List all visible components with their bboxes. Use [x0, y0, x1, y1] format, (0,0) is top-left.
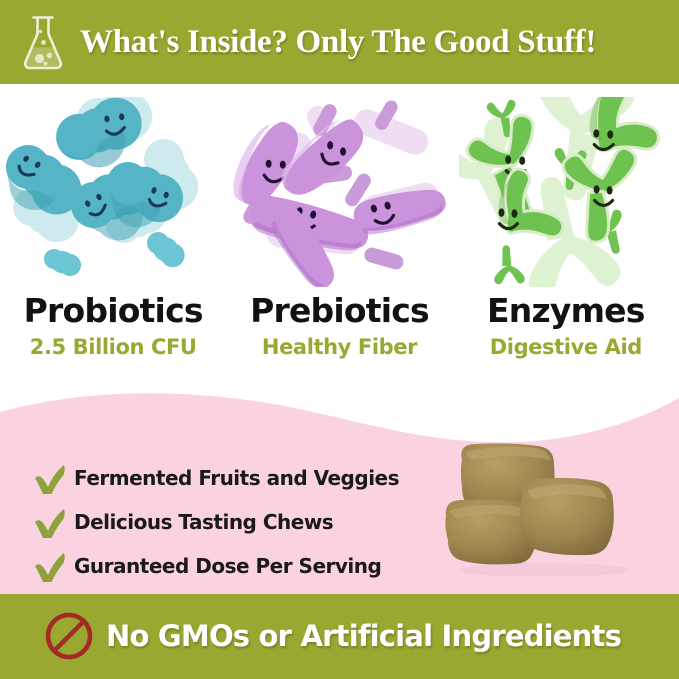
probiotic-small-pair-2 — [141, 227, 190, 271]
chew-shadow — [458, 563, 630, 576]
probiotic-cell-a — [52, 97, 147, 173]
benefit-item-1: Fermented Fruits and Veggies — [32, 456, 432, 500]
ingredients-infographic: What's Inside? Only The Good Stuff! — [0, 0, 679, 679]
header-banner: What's Inside? Only The Good Stuff! — [0, 0, 679, 84]
benefit-label-1: Fermented Fruits and Veggies — [74, 466, 399, 490]
header-title: What's Inside? Only The Good Stuff! — [80, 18, 660, 66]
ingredient-column-enzymes: Enzymes Digestive Aid — [453, 292, 679, 362]
no-prohibited-icon — [44, 611, 94, 661]
probiotics-illustration-cell — [0, 94, 226, 289]
benefit-item-2: Delicious Tasting Chews — [32, 500, 432, 544]
enzymes-illustration-cell — [453, 94, 679, 289]
benefit-label-3: Guranteed Dose Per Serving — [74, 554, 381, 578]
benefit-label-2: Delicious Tasting Chews — [74, 510, 333, 534]
enzymes-subtitle: Digestive Aid — [453, 332, 679, 362]
ingredients-section: Probiotics 2.5 Billion CFU Prebiotics He… — [0, 84, 679, 414]
soft-chews-photo — [436, 434, 652, 576]
footer-title: No GMOs or Artificial Ingredients — [106, 610, 666, 662]
prebiotics-title: Prebiotics — [226, 292, 452, 330]
prebiotics-illustration-cell — [226, 94, 452, 289]
ingredient-column-probiotics: Probiotics 2.5 Billion CFU — [0, 292, 226, 362]
enzymes-title: Enzymes — [453, 292, 679, 330]
benefits-section: Fermented Fruits and Veggies Delicious T… — [0, 380, 679, 594]
footer-banner: No GMOs or Artificial Ingredients — [0, 594, 679, 679]
check-icon — [32, 506, 66, 538]
probiotic-small-pair-1 — [41, 246, 83, 278]
prebiotic-bacteria-illustration — [232, 97, 446, 287]
ingredient-column-prebiotics: Prebiotics Healthy Fiber — [226, 292, 452, 362]
chew-right — [520, 478, 614, 555]
illustration-row — [0, 94, 679, 289]
benefit-item-3: Guranteed Dose Per Serving — [32, 544, 432, 588]
probiotics-subtitle: 2.5 Billion CFU — [0, 332, 226, 362]
prebiotics-subtitle: Healthy Fiber — [226, 332, 452, 362]
ingredient-labels-row: Probiotics 2.5 Billion CFU Prebiotics He… — [0, 292, 679, 362]
enzyme-molecule-illustration — [459, 97, 673, 287]
check-icon — [32, 462, 66, 494]
flask-icon — [20, 14, 66, 72]
probiotic-bacteria-illustration — [6, 97, 220, 287]
probiotics-title: Probiotics — [0, 292, 226, 330]
check-icon — [32, 550, 66, 582]
benefits-list: Fermented Fruits and Veggies Delicious T… — [32, 456, 432, 588]
